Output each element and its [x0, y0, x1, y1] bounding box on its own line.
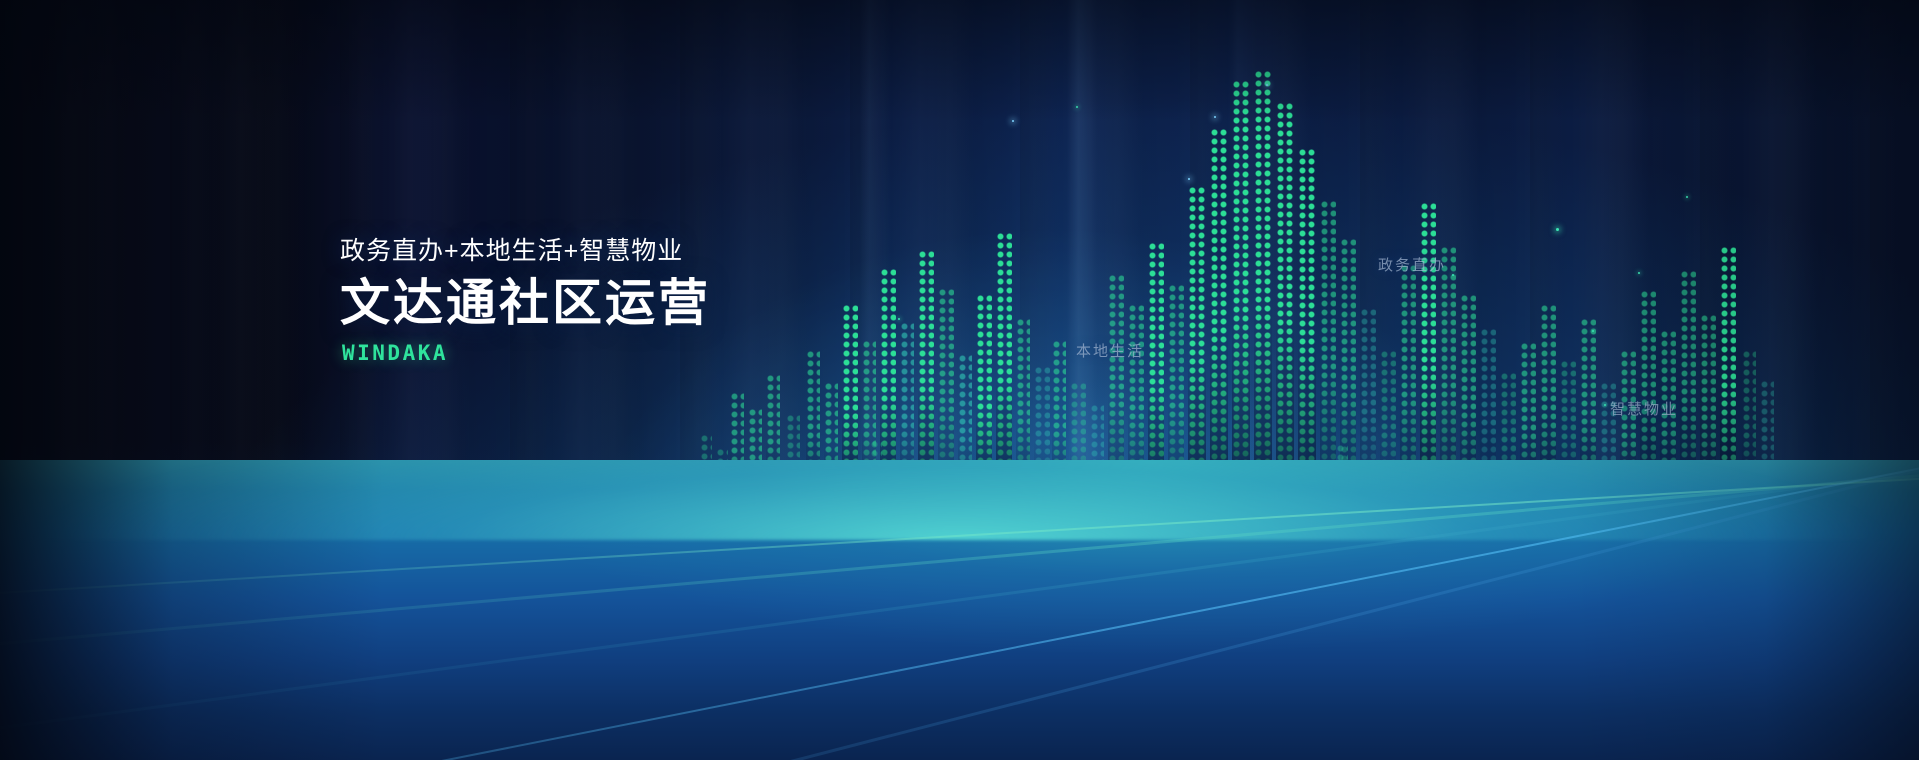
banner-title: 文达通社区运营: [340, 273, 711, 333]
ground-plane: [0, 460, 1919, 760]
skyline-label: 政务直办: [1378, 254, 1446, 275]
banner-subtitle: 政务直办+本地生活+智慧物业: [340, 236, 711, 267]
skyline-label: 本地生活: [1076, 340, 1144, 361]
headline-block: 政务直办+本地生活+智慧物业 文达通社区运营 WINDAKA: [340, 236, 711, 365]
skyline-label: 智慧物业: [1610, 398, 1678, 419]
brand-wordmark: WINDAKA: [342, 341, 711, 365]
banner-stage: 本地生活政务直办智慧物业 政务直办+本地生活+智慧物业 文达通社区运营 WIND…: [0, 0, 1919, 760]
